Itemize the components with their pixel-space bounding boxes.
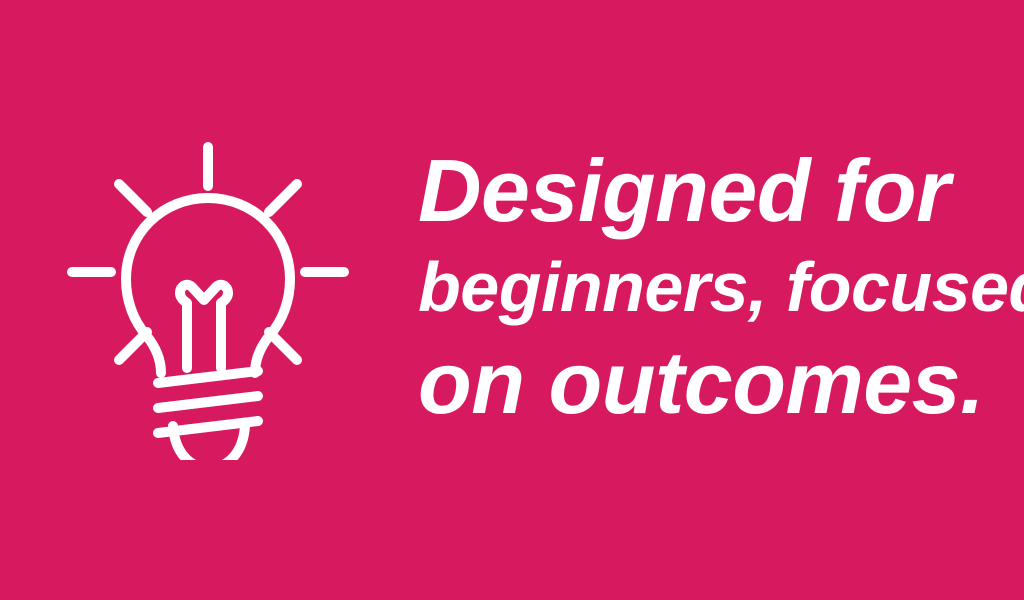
slide-canvas: Designed for beginners, focused on outco… — [0, 0, 1024, 600]
headline-line-1: Designed for — [418, 143, 978, 239]
bulb-glass-icon — [126, 198, 290, 373]
headline-block: Designed for beginners, focused on outco… — [418, 143, 978, 431]
ray-top-left-icon — [119, 184, 147, 212]
base-thread-1-icon — [158, 371, 258, 383]
base-thread-2-icon — [158, 396, 258, 408]
filament-icon — [180, 285, 228, 368]
headline-line-3: on outcomes. — [418, 335, 978, 431]
lightbulb-icon — [58, 130, 358, 460]
ray-top-right-icon — [269, 184, 297, 212]
lightbulb-icon-svg — [58, 130, 358, 460]
headline-line-2: beginners, focused — [418, 239, 978, 335]
